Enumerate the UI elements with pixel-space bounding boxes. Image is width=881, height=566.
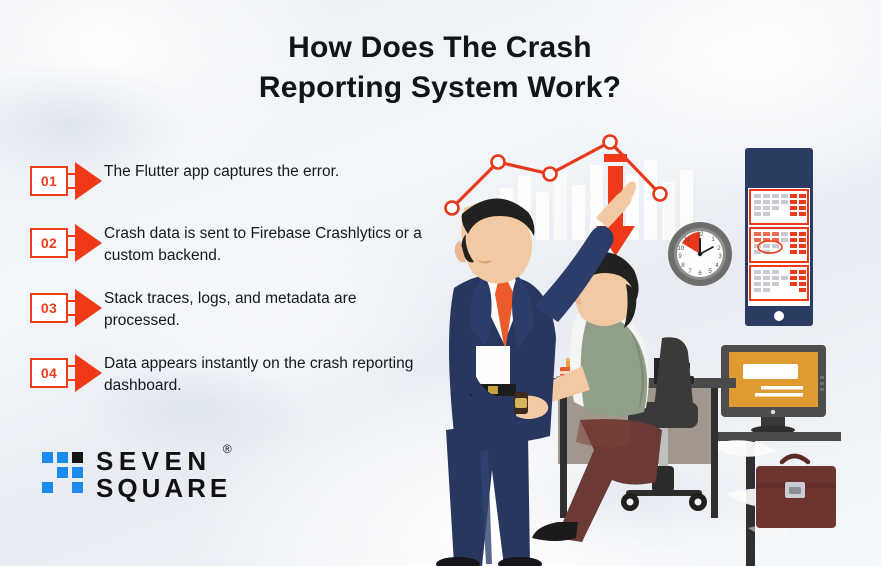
step-text: Data appears instantly on the crash repo…	[104, 350, 428, 397]
list-item: 01 The Flutter app captures the error.	[28, 158, 428, 202]
step-badge: 03	[28, 287, 104, 329]
mobile-dashboard-panel	[745, 148, 813, 326]
step-badge: 01	[28, 160, 104, 202]
arrow-right-icon	[75, 224, 102, 262]
logo-mark-icon	[42, 452, 84, 498]
list-item: 02 Crash data is sent to Firebase Crashl…	[28, 220, 428, 267]
title-line-1: How Does The Crash	[150, 28, 730, 68]
illustration-office-scene: 121 23 45 67 89 1011	[430, 130, 881, 566]
briefcase-icon	[756, 456, 836, 528]
steps-list: 01 The Flutter app captures the error. 0…	[28, 158, 428, 415]
step-badge: 02	[28, 222, 104, 264]
list-item: 04 Data appears instantly on the crash r…	[28, 350, 428, 397]
step-badge: 04	[28, 352, 104, 394]
logo-line-2: SQUARE	[96, 475, 231, 502]
infographic-canvas: How Does The Crash Reporting System Work…	[0, 0, 881, 566]
wall-clock-icon: 121 23 45 67 89 1011	[668, 222, 732, 286]
logo-line-1: SEVEN ®	[96, 448, 212, 475]
list-item: 03 Stack traces, logs, and metadata are …	[28, 285, 428, 332]
step-text: Crash data is sent to Firebase Crashlyti…	[104, 220, 428, 267]
arrow-right-icon	[75, 354, 102, 392]
svg-text:12: 12	[697, 232, 704, 238]
step-text: Stack traces, logs, and metadata are pro…	[104, 285, 428, 332]
step-number: 02	[30, 228, 68, 258]
step-number: 04	[30, 358, 68, 388]
page-title: How Does The Crash Reporting System Work…	[150, 28, 730, 107]
svg-text:10: 10	[678, 246, 685, 252]
brand-logo: SEVEN ® SQUARE	[42, 448, 231, 501]
arrow-right-icon	[75, 289, 102, 327]
registered-mark-icon: ®	[223, 443, 232, 455]
step-number: 03	[30, 293, 68, 323]
arrow-right-icon	[75, 162, 102, 200]
step-text: The Flutter app captures the error.	[104, 158, 428, 183]
svg-text:11: 11	[684, 237, 691, 243]
title-line-2: Reporting System Work?	[150, 68, 730, 108]
step-number: 01	[30, 166, 68, 196]
logo-line-1-text: SEVEN	[96, 446, 212, 476]
